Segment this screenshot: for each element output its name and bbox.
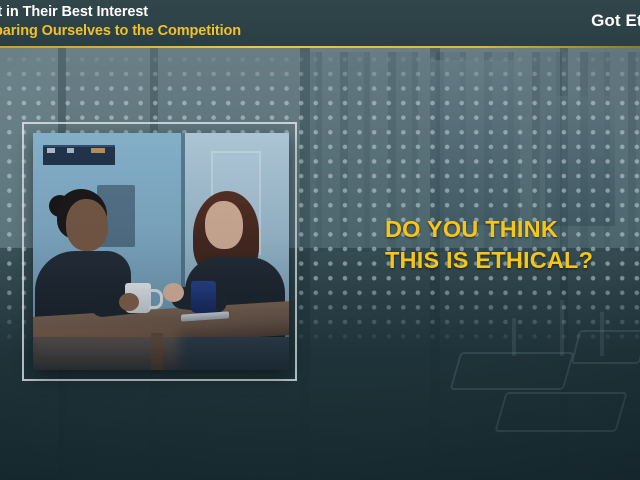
photo-person-right-face [207,207,233,247]
photo-person-left-head [66,199,108,251]
background-building-tall [430,60,520,225]
office-chair [494,392,627,432]
office-chair-post [512,318,516,356]
question-line-2: THIS IS ETHICAL? [385,245,625,276]
brand-logo-text: Got Ethi [591,11,640,31]
question-line-1: DO YOU THINK [385,214,625,245]
header-title-line-1: 't in Their Best Interest [0,3,434,22]
photo-monitor-content [47,148,111,153]
header-subtitle-line-2: paring Ourselves to the Competition [0,22,434,41]
photo-person-left-hand [119,293,139,311]
office-chair [450,352,575,390]
slide-canvas: 't in Their Best Interest paring Ourselv… [0,0,640,480]
background-building-short [545,96,615,226]
header-accent-rule [0,46,640,48]
photo-conversation [33,133,289,370]
photo-blue-mug [191,281,216,313]
photo-white-mug-handle [149,289,163,309]
question-overlay: DO YOU THINK THIS IS ETHICAL? [385,214,625,276]
header-bar: 't in Their Best Interest paring Ourselv… [0,0,640,48]
header-title-group: 't in Their Best Interest paring Ourselv… [0,3,434,41]
photo-foreground-blur [33,329,179,370]
office-chair-post [560,300,564,356]
office-chair [571,330,640,364]
photo-person-right-hand [163,283,184,302]
